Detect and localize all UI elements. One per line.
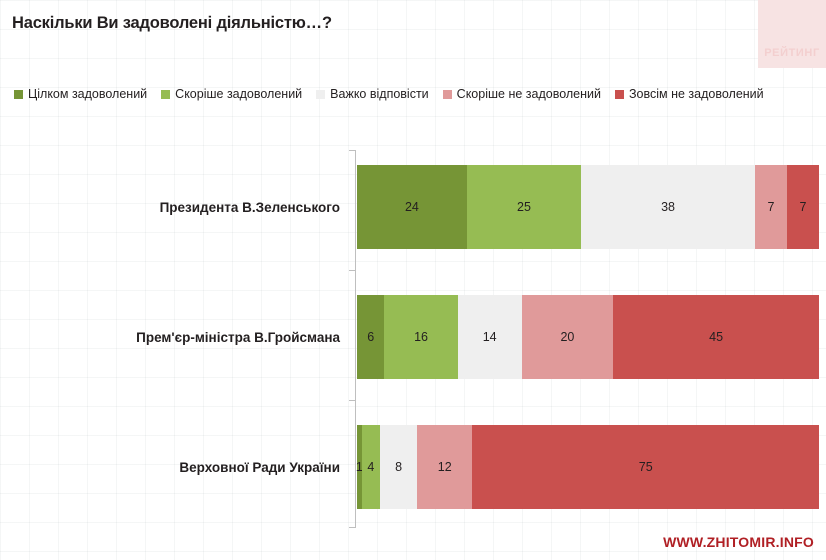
bar-segment-value: 75 xyxy=(639,461,653,474)
bar-segment[interactable]: 24 xyxy=(357,165,467,249)
bar-segment[interactable]: 16 xyxy=(384,295,457,379)
legend-item-label: Зовсім не задоволений xyxy=(629,88,764,101)
bar-segment[interactable]: 20 xyxy=(522,295,613,379)
page-title: Наскільки Ви задоволені діяльністю…? xyxy=(12,14,332,33)
bar-segment[interactable]: 75 xyxy=(472,425,819,509)
bar-segment[interactable]: 14 xyxy=(458,295,522,379)
bar-segment-value: 20 xyxy=(560,331,574,344)
legend-item-label: Цілком задоволений xyxy=(28,88,147,101)
bar-segment[interactable]: 45 xyxy=(613,295,819,379)
plot-area: Президента В.Зеленського24253877Прем'єр-… xyxy=(0,142,826,532)
bar-segment[interactable]: 38 xyxy=(581,165,755,249)
chart-legend: Цілком задоволенийСкоріше задоволенийВаж… xyxy=(14,88,778,101)
legend-item[interactable]: Важко відповісти xyxy=(316,88,429,101)
bar-segment[interactable]: 12 xyxy=(417,425,472,509)
bar-segment[interactable]: 7 xyxy=(787,165,819,249)
rating-watermark: РЕЙТИНГ xyxy=(758,0,826,68)
chart-stage: РЕЙТИНГ Наскільки Ви задоволені діяльніс… xyxy=(0,0,826,560)
bar-segment-value: 38 xyxy=(661,201,675,214)
bar-segment-value: 6 xyxy=(367,331,374,344)
legend-item[interactable]: Цілком задоволений xyxy=(14,88,147,101)
category-label: Верховної Ради України xyxy=(179,402,340,532)
legend-item[interactable]: Скоріше задоволений xyxy=(161,88,302,101)
bar-segment-value: 45 xyxy=(709,331,723,344)
bar-segment-value: 7 xyxy=(800,201,807,214)
legend-item-label: Важко відповісти xyxy=(330,88,429,101)
bar-segment-value: 14 xyxy=(483,331,497,344)
legend-swatch-icon xyxy=(443,90,452,99)
bar-segment-value: 16 xyxy=(414,331,428,344)
legend-swatch-icon xyxy=(161,90,170,99)
bar-segment[interactable]: 8 xyxy=(380,425,417,509)
bar-segment-value: 4 xyxy=(367,461,374,474)
site-url: WWW.ZHITOMIR.INFO xyxy=(663,534,814,550)
chart-row: Президента В.Зеленського24253877 xyxy=(0,142,826,272)
bar-segment-value: 25 xyxy=(517,201,531,214)
category-label: Прем'єр-міністра В.Гройсмана xyxy=(136,272,340,402)
bar-segment[interactable]: 7 xyxy=(755,165,787,249)
bar-segment[interactable]: 6 xyxy=(357,295,384,379)
stacked-bar: 24253877 xyxy=(357,165,819,249)
legend-item-label: Скоріше не задоволений xyxy=(457,88,601,101)
rating-watermark-label: РЕЙТИНГ xyxy=(764,47,820,59)
bar-segment-value: 7 xyxy=(768,201,775,214)
chart-row: Верховної Ради України1481275 xyxy=(0,402,826,532)
bar-rows: Президента В.Зеленського24253877Прем'єр-… xyxy=(0,142,826,532)
stacked-bar: 1481275 xyxy=(357,425,819,509)
legend-item[interactable]: Зовсім не задоволений xyxy=(615,88,764,101)
bar-segment-value: 8 xyxy=(395,461,402,474)
stacked-bar: 616142045 xyxy=(357,295,819,379)
category-label: Президента В.Зеленського xyxy=(160,142,340,272)
legend-swatch-icon xyxy=(14,90,23,99)
legend-item[interactable]: Скоріше не задоволений xyxy=(443,88,601,101)
legend-swatch-icon xyxy=(316,90,325,99)
bar-segment[interactable]: 25 xyxy=(467,165,581,249)
bar-segment-value: 12 xyxy=(438,461,452,474)
legend-swatch-icon xyxy=(615,90,624,99)
bar-segment-value: 24 xyxy=(405,201,419,214)
chart-row: Прем'єр-міністра В.Гройсмана616142045 xyxy=(0,272,826,402)
bar-segment[interactable]: 4 xyxy=(362,425,380,509)
legend-item-label: Скоріше задоволений xyxy=(175,88,302,101)
